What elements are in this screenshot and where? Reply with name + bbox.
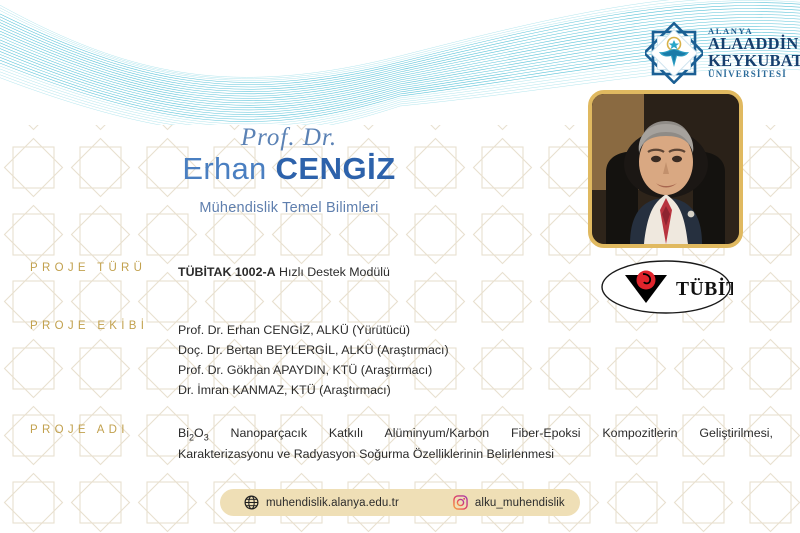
project-type-program: Hızlı Destek Modülü bbox=[279, 265, 390, 279]
project-title-rest: Nanoparçacık Katkılı Alüminyum/Karbon Fi… bbox=[209, 426, 773, 440]
tubitak-wordmark: TÜBİTAK bbox=[676, 279, 733, 300]
globe-icon bbox=[244, 495, 259, 510]
website-link[interactable]: muhendislik.alanya.edu.tr bbox=[244, 495, 399, 510]
instagram-text: alku_muhendislik bbox=[475, 497, 565, 509]
person-name-block: Prof. Dr. Erhan CENGİZ Mühendislik Temel… bbox=[0, 125, 578, 216]
logo-line-universitesi: ÜNİVERSİTESİ bbox=[708, 70, 800, 79]
university-logo: ALANYA ALAADDİN KEYKUBAT ÜNİVERSİTESİ bbox=[645, 20, 793, 86]
project-team-list: Prof. Dr. Erhan CENGİZ, ALKÜ (Yürütücü) … bbox=[178, 320, 449, 400]
research-project-info-card: ALANYA ALAADDİN KEYKUBAT ÜNİVERSİTESİ bbox=[0, 0, 800, 533]
instagram-link[interactable]: alku_muhendislik bbox=[453, 495, 565, 510]
project-title-row: PROJE ADI Bi2O3 Nanoparçacık Katkılı Alü… bbox=[30, 424, 775, 465]
list-item: Dr. İmran KANMAZ, KTÜ (Araştırmacı) bbox=[178, 380, 449, 400]
honorific: Prof. Dr. bbox=[0, 125, 578, 150]
contact-footer: muhendislik.alanya.edu.tr alku_muhendisl… bbox=[220, 489, 580, 516]
last-name: CENGİZ bbox=[276, 151, 396, 186]
list-item: Doç. Dr. Bertan BEYLERGİL, ALKÜ (Araştır… bbox=[178, 340, 449, 360]
project-team-label: PROJE EKİBİ bbox=[30, 320, 178, 332]
project-title-value: Bi2O3 Nanoparçacık Katkılı Alüminyum/Kar… bbox=[178, 424, 773, 465]
project-title-line-2: Karakterizasyonu ve Radyasyon Soğurma Öz… bbox=[178, 445, 773, 464]
university-eagle-star-emblem-icon bbox=[645, 22, 703, 84]
page-title: Erhan CENGİZ bbox=[0, 151, 578, 187]
project-team-row: PROJE EKİBİ Prof. Dr. Erhan CENGİZ, ALKÜ… bbox=[30, 320, 770, 400]
website-text: muhendislik.alanya.edu.tr bbox=[266, 497, 399, 509]
instagram-icon bbox=[453, 495, 468, 510]
tubitak-logo: TÜBİTAK bbox=[600, 259, 733, 315]
project-type-label: PROJE TÜRÜ bbox=[30, 262, 178, 274]
project-title-line-1: Bi2O3 Nanoparçacık Katkılı Alüminyum/Kar… bbox=[178, 424, 773, 445]
logo-line-keykubat: KEYKUBAT bbox=[708, 53, 800, 70]
project-type-code: TÜBİTAK 1002-A bbox=[178, 265, 276, 279]
list-item: Prof. Dr. Gökhan APAYDIN, KTÜ (Araştırma… bbox=[178, 360, 449, 380]
avatar bbox=[592, 94, 739, 244]
project-title-label: PROJE ADI bbox=[30, 424, 178, 436]
project-type-value: TÜBİTAK 1002-A Hızlı Destek Modülü bbox=[178, 262, 390, 282]
list-item: Prof. Dr. Erhan CENGİZ, ALKÜ (Yürütücü) bbox=[178, 320, 449, 340]
formula-bi: Bi bbox=[178, 426, 189, 440]
first-name: Erhan bbox=[182, 151, 266, 186]
portrait-frame bbox=[588, 90, 743, 248]
formula-o: O bbox=[194, 426, 204, 440]
department-label: Mühendislik Temel Bilimleri bbox=[0, 200, 578, 216]
